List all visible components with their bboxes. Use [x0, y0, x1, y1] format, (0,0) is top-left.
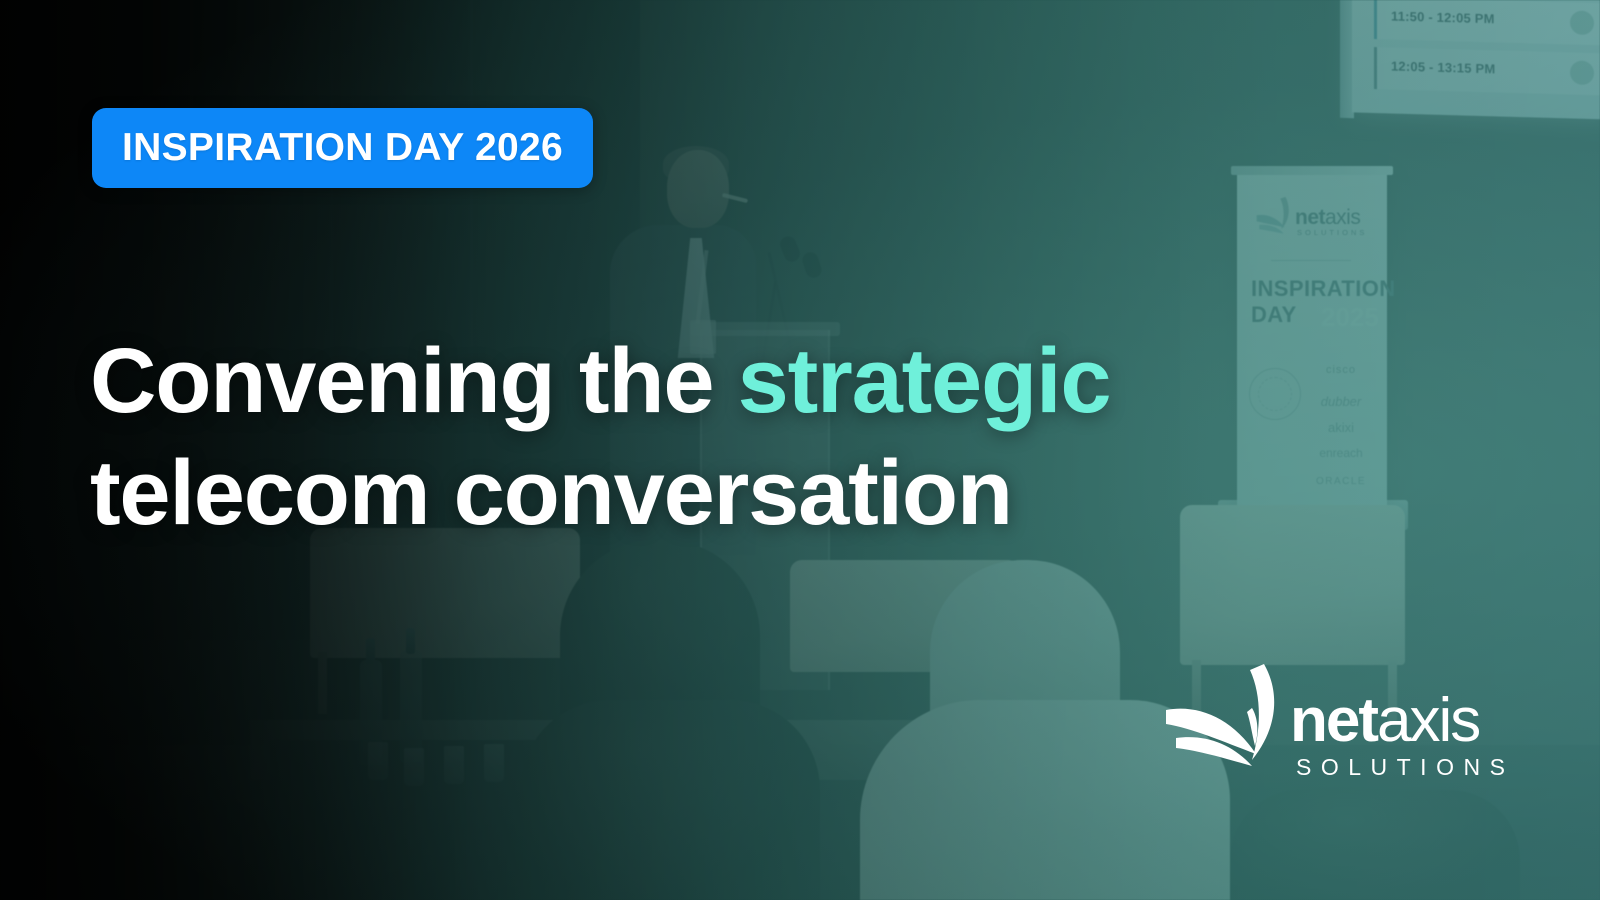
- headline-line-1: Convening the strategic: [90, 325, 1270, 437]
- netaxis-word-net: net: [1290, 686, 1377, 755]
- netaxis-feather-icon: [1160, 662, 1290, 782]
- headline-accent-word: strategic: [738, 330, 1111, 432]
- netaxis-logo: netaxis SOLUTIONS: [1160, 662, 1490, 797]
- headline-text-lead: Convening the: [90, 330, 738, 432]
- hero-content: INSPIRATION DAY 2026 Convening the strat…: [0, 0, 1600, 900]
- page-title: Convening the strategic telecom conversa…: [90, 325, 1270, 549]
- netaxis-subtitle: SOLUTIONS: [1296, 754, 1514, 781]
- event-badge: INSPIRATION DAY 2026: [92, 108, 593, 188]
- headline-line-2: telecom conversation: [90, 437, 1270, 549]
- netaxis-word-axis: axis: [1377, 686, 1479, 755]
- netaxis-wordmark: netaxis: [1290, 690, 1479, 752]
- event-badge-label: INSPIRATION DAY 2026: [122, 126, 563, 170]
- hero-banner: 11:50 - 12:05 PM 12:05 - 13:15 PM netaxi…: [0, 0, 1600, 900]
